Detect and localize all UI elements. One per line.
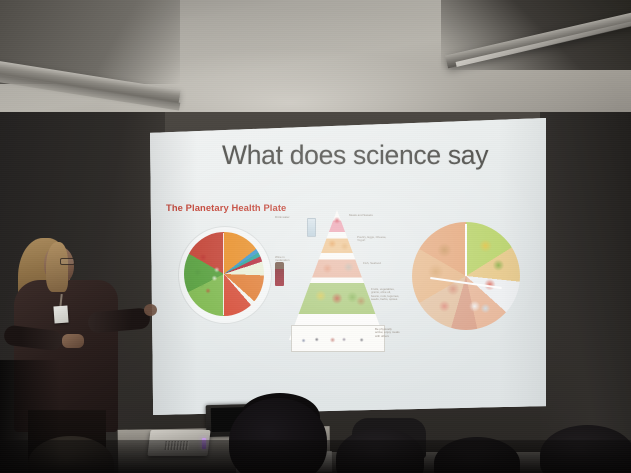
slide-subtitle: The Planetary Health Plate — [166, 202, 286, 213]
figure-eatwell-plate — [412, 222, 520, 330]
pyramid-label-tier-2: Poultry, Eggs, Cheese, Yogurt — [357, 236, 393, 243]
name-badge — [53, 306, 68, 324]
slide-title: What does science say — [222, 140, 522, 171]
pyramid-label-tier-1: Meats and Sweets — [349, 214, 383, 217]
figure-planetary-health-plate — [178, 226, 270, 322]
pyramid-label-wine: Wine in moderation — [275, 256, 297, 263]
presenter-hands — [62, 334, 84, 348]
pyramid-activity-figures — [293, 329, 381, 350]
presenter-hair-front — [46, 242, 68, 292]
pyramid-label-tier-3: Fish, Seafood — [363, 262, 399, 265]
pyramid-label-tier-4: Fruits, vegetables, grains, olive oil, b… — [371, 288, 400, 301]
slide: What does science say The Planetary Heal… — [150, 118, 546, 415]
wall-shadow-right — [540, 112, 631, 473]
pyramid-label-tier-5: Be physically active; enjoy meals with o… — [375, 328, 400, 338]
plate-center-divider — [223, 233, 224, 315]
presenter-arm-right — [87, 307, 151, 333]
projection-screen: What does science say The Planetary Heal… — [150, 118, 546, 415]
pyramid-label-water: Drink water — [275, 216, 303, 219]
water-glass-icon — [307, 218, 316, 237]
eatwell-divider-vertical — [465, 224, 467, 276]
figure-mediterranean-diet-pyramid: Drink water Wine in moderation Meats and… — [275, 204, 400, 354]
pyramid-food-illustrations — [289, 210, 385, 340]
presenter-hand-right — [144, 304, 157, 316]
glasses-icon — [60, 258, 75, 265]
photo-scene: What does science say The Planetary Heal… — [0, 0, 631, 473]
foreground-shadow — [0, 440, 631, 473]
wine-bottle-icon — [275, 262, 284, 286]
